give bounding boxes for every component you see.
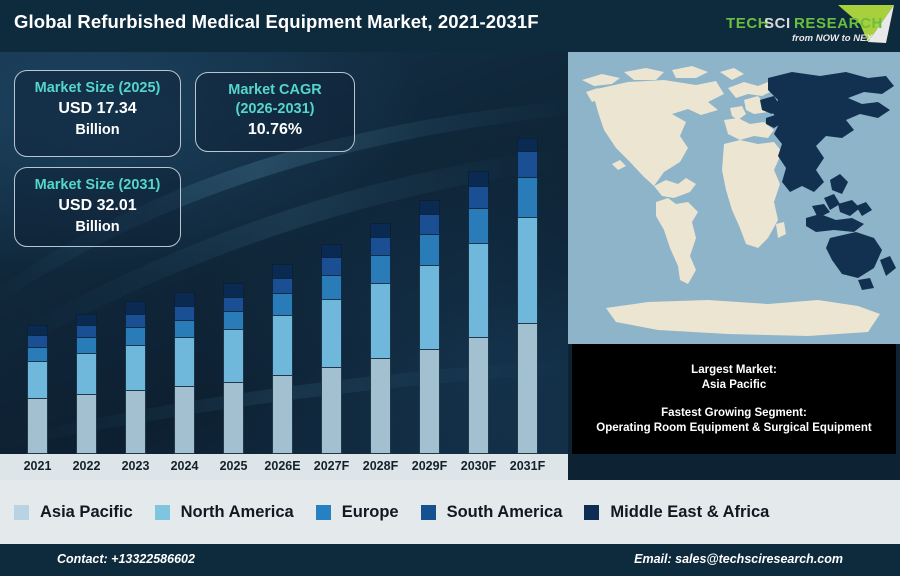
- market-cagr-period: (2026-2031): [196, 100, 354, 119]
- logo-icon: TECH SCI RESEARCH from NOW to NEXT: [718, 2, 896, 48]
- x-axis-tick-label: 2029F: [405, 459, 454, 473]
- bar-segment: [76, 314, 97, 325]
- bar-column: [272, 264, 293, 454]
- largest-market-label: Largest Market:: [691, 363, 777, 378]
- market-size-2031-label: Market Size (2031): [15, 176, 180, 195]
- logo-text-research: RESEARCH: [794, 15, 883, 32]
- bar-segment: [174, 306, 195, 319]
- bar-segment: [468, 171, 489, 185]
- market-size-2031-value: USD 32.01: [15, 195, 180, 217]
- bar-segment: [272, 315, 293, 375]
- x-axis-tick-label: 2031F: [503, 459, 552, 473]
- market-size-2025-unit: Billion: [15, 120, 180, 141]
- bar-segment: [517, 217, 538, 323]
- bar-segment: [272, 293, 293, 314]
- legend-label: North America: [181, 503, 294, 522]
- market-cagr-callout: Market CAGR (2026-2031) 10.76%: [195, 72, 355, 152]
- bar-segment: [223, 382, 244, 454]
- bar-segment: [76, 337, 97, 352]
- bar-segment: [272, 375, 293, 454]
- logo-text-tech: TECH: [726, 15, 769, 32]
- bar-segment: [419, 265, 440, 349]
- market-size-2031-unit: Billion: [15, 217, 180, 238]
- bar-segment: [174, 320, 195, 337]
- bar-segment: [468, 337, 489, 454]
- bar-segment: [272, 278, 293, 293]
- bar-column: [174, 292, 195, 454]
- x-axis-tick-label: 2027F: [307, 459, 356, 473]
- bar-segment: [370, 283, 391, 359]
- footer-contact: Contact: +13322586602: [57, 552, 195, 566]
- legend-item[interactable]: Middle East & Africa: [584, 503, 769, 522]
- legend-swatch-icon: [421, 505, 436, 520]
- fastest-segment-value: Operating Room Equipment & Surgical Equi…: [596, 421, 871, 436]
- bar-segment: [468, 208, 489, 243]
- market-size-2025-value: USD 17.34: [15, 98, 180, 120]
- bar-column: [27, 325, 48, 454]
- bar-segment: [223, 297, 244, 311]
- logo-tagline: from NOW to NEXT: [792, 33, 880, 44]
- market-cagr-value: 10.76%: [196, 119, 354, 141]
- chart-legend: Asia PacificNorth AmericaEuropeSouth Ame…: [0, 480, 900, 544]
- bar-column: [517, 138, 538, 454]
- bar-segment: [174, 386, 195, 454]
- legend-label: South America: [447, 503, 563, 522]
- bar-segment: [370, 237, 391, 255]
- bar-column: [76, 314, 97, 454]
- bar-segment: [321, 275, 342, 299]
- largest-market-value: Asia Pacific: [702, 378, 767, 393]
- bar-segment: [419, 200, 440, 214]
- bar-column: [419, 200, 440, 454]
- legend-item[interactable]: Europe: [316, 503, 399, 522]
- x-axis-tick-label: 2022: [62, 459, 111, 473]
- bar-segment: [27, 335, 48, 346]
- bar-segment: [370, 255, 391, 283]
- bar-segment: [76, 325, 97, 337]
- bar-segment: [419, 349, 440, 454]
- page-title: Global Refurbished Medical Equipment Mar…: [14, 11, 539, 33]
- legend-label: Middle East & Africa: [610, 503, 769, 522]
- bar-segment: [174, 292, 195, 306]
- bar-segment: [27, 325, 48, 335]
- bar-segment: [27, 361, 48, 398]
- bar-segment: [321, 299, 342, 367]
- bar-segment: [174, 337, 195, 386]
- bar-segment: [370, 223, 391, 237]
- footer-bar: Contact: +13322586602 Email: sales@techs…: [0, 544, 900, 576]
- bar-column: [223, 283, 244, 454]
- legend-item[interactable]: South America: [421, 503, 563, 522]
- market-cagr-label: Market CAGR: [196, 81, 354, 100]
- bar-segment: [321, 367, 342, 454]
- legend-swatch-icon: [316, 505, 331, 520]
- bar-segment: [272, 264, 293, 278]
- x-axis-tick-label: 2028F: [356, 459, 405, 473]
- bar-column: [468, 171, 489, 454]
- x-axis: 202120222023202420252026E2027F2028F2029F…: [0, 454, 568, 480]
- x-axis-tick-label: 2026E: [258, 459, 307, 473]
- legend-item[interactable]: Asia Pacific: [14, 503, 133, 522]
- legend-label: Asia Pacific: [40, 503, 133, 522]
- legend-swatch-icon: [584, 505, 599, 520]
- market-size-2031-callout: Market Size (2031) USD 32.01 Billion: [14, 167, 181, 247]
- bar-segment: [223, 283, 244, 297]
- bar-segment: [125, 314, 146, 327]
- header-bar: Global Refurbished Medical Equipment Mar…: [0, 0, 900, 52]
- bar-segment: [517, 138, 538, 151]
- bar-segment: [517, 323, 538, 454]
- bar-segment: [517, 177, 538, 217]
- bar-segment: [468, 186, 489, 209]
- bar-segment: [125, 301, 146, 314]
- legend-swatch-icon: [14, 505, 29, 520]
- bar-segment: [517, 151, 538, 177]
- logo-text-sci: SCI: [764, 15, 791, 32]
- world-map: [568, 52, 900, 344]
- x-axis-tick-label: 2021: [13, 459, 62, 473]
- bar-segment: [125, 390, 146, 454]
- legend-swatch-icon: [155, 505, 170, 520]
- bar-column: [125, 301, 146, 454]
- bar-segment: [321, 257, 342, 274]
- bar-segment: [27, 398, 48, 454]
- x-axis-tick-label: 2025: [209, 459, 258, 473]
- bar-segment: [468, 243, 489, 337]
- bar-segment: [76, 394, 97, 454]
- x-axis-tick-label: 2024: [160, 459, 209, 473]
- bar-segment: [125, 345, 146, 390]
- bar-segment: [419, 214, 440, 234]
- bar-segment: [125, 327, 146, 344]
- bar-segment: [223, 311, 244, 329]
- bar-segment: [370, 358, 391, 454]
- legend-label: Europe: [342, 503, 399, 522]
- bar-column: [370, 223, 391, 454]
- bar-segment: [223, 329, 244, 382]
- world-map-icon: [568, 52, 900, 344]
- footer-email: Email: sales@techsciresearch.com: [634, 552, 843, 566]
- bar-segment: [419, 234, 440, 265]
- techsci-research-logo: TECH SCI RESEARCH from NOW to NEXT: [718, 2, 896, 48]
- legend-item[interactable]: North America: [155, 503, 294, 522]
- bar-segment: [27, 347, 48, 361]
- market-size-2025-label: Market Size (2025): [15, 79, 180, 98]
- infographic-root: Global Refurbished Medical Equipment Mar…: [0, 0, 900, 576]
- fastest-segment-label: Fastest Growing Segment:: [661, 406, 807, 421]
- x-axis-tick-label: 2023: [111, 459, 160, 473]
- bar-column: [321, 244, 342, 454]
- bar-segment: [76, 353, 97, 394]
- market-size-2025-callout: Market Size (2025) USD 17.34 Billion: [14, 70, 181, 157]
- bar-segment: [321, 244, 342, 257]
- x-axis-tick-label: 2030F: [454, 459, 503, 473]
- market-highlights-box: Largest Market: Asia Pacific Fastest Gro…: [572, 344, 896, 454]
